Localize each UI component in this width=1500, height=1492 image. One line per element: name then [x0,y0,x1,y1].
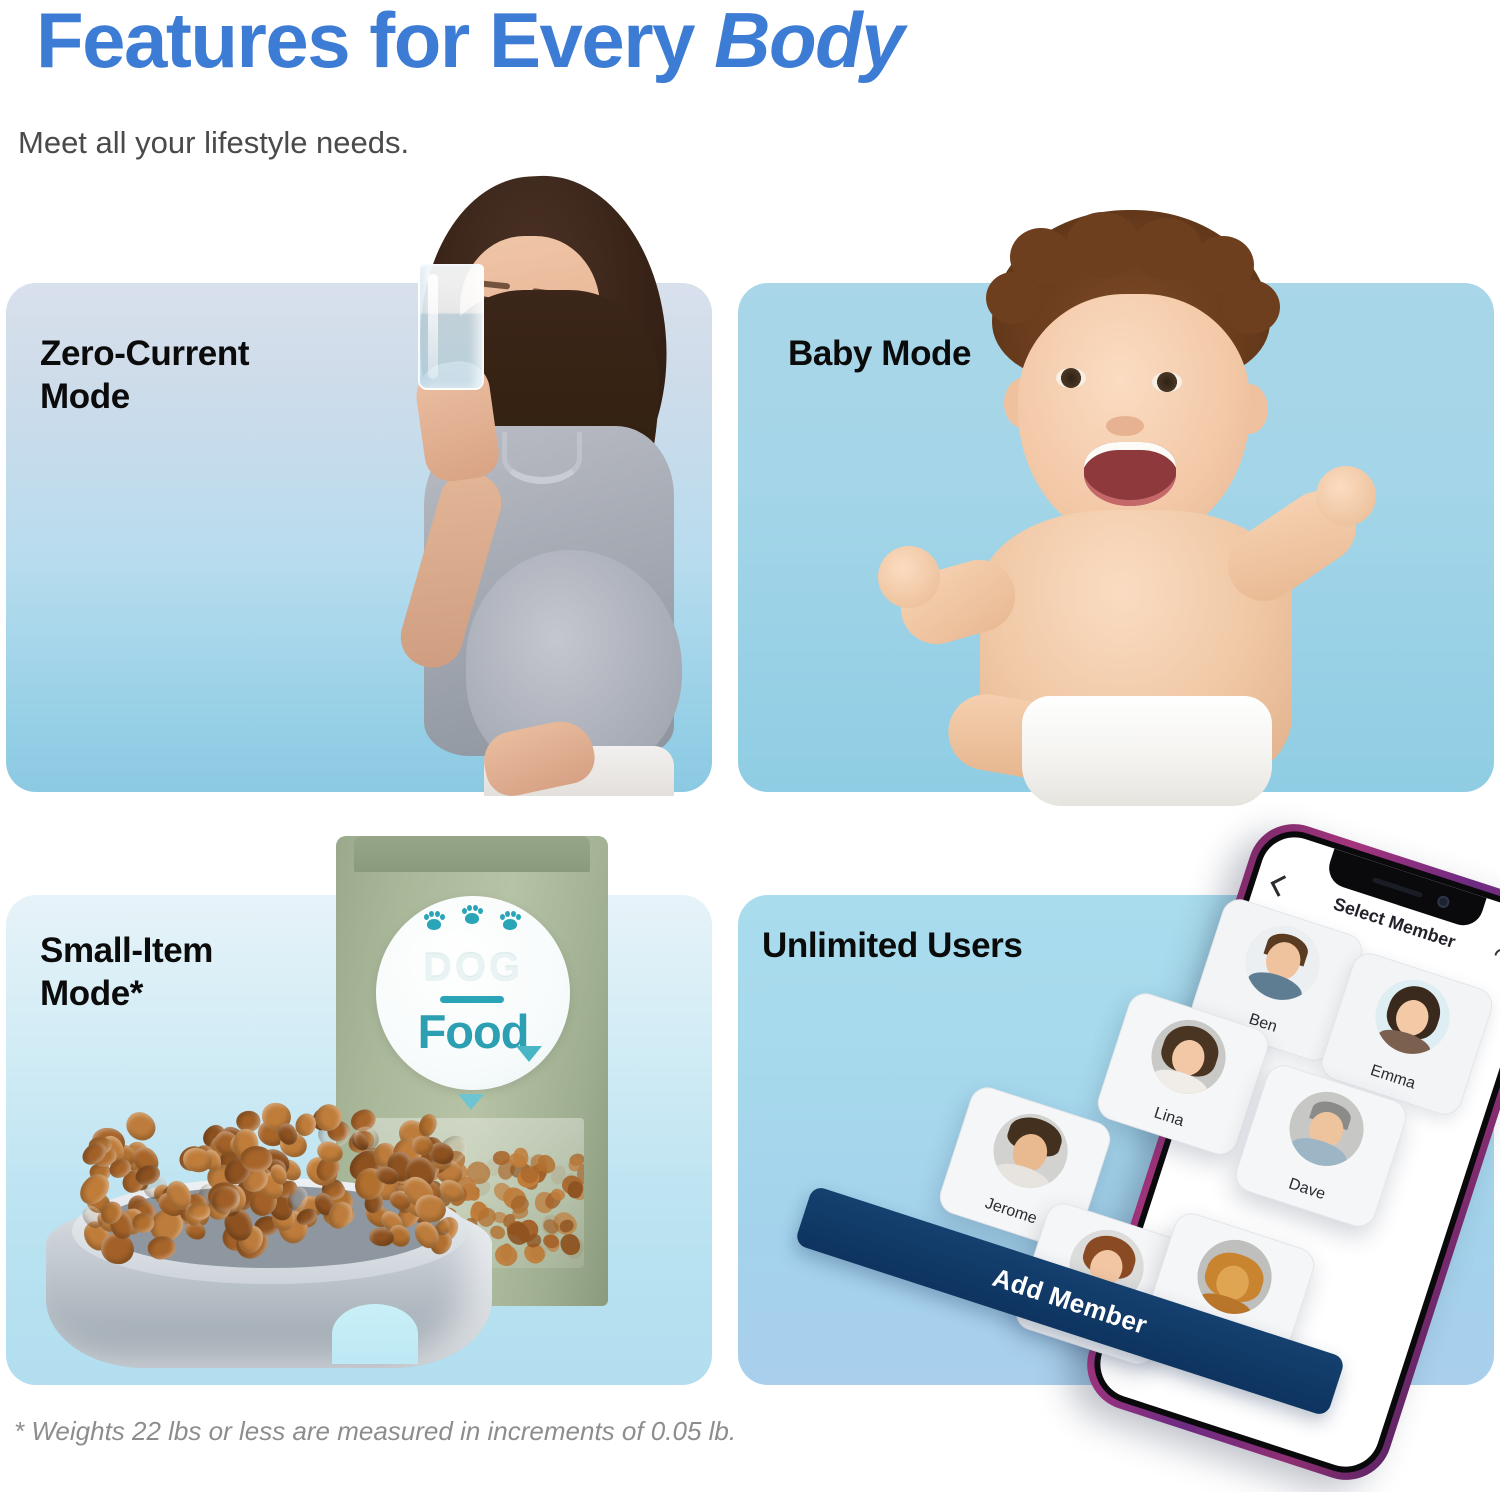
earpiece-speaker [1372,877,1423,898]
feature-title-small-item-mode: Small-Item Mode* [40,930,213,1015]
page-subtitle: Meet all your lifestyle needs. [18,125,409,161]
page-title-emphasis: Body [714,0,903,84]
avatar [1366,970,1459,1063]
avatar [984,1104,1077,1197]
avatar [1188,1230,1281,1323]
front-camera-icon [1436,894,1451,909]
bag-label: DOG Food [376,896,570,1090]
feature-title-unlimited-users: Unlimited Users [762,925,1022,968]
feature-title-baby-mode: Baby Mode [788,333,971,376]
feature-title-zero-current: Zero-Current Mode [40,333,249,418]
avatar [1142,1010,1235,1103]
image-baby [870,210,1390,792]
avatar [1280,1082,1373,1175]
image-pregnant-woman [398,170,728,795]
footnote: * Weights 22 lbs or less are measured in… [14,1416,736,1447]
page-title: Features for Every Body [36,0,903,82]
avatar [1236,916,1329,1009]
image-dog-bowl [46,1108,516,1388]
bag-brand-top: DOG [376,946,570,991]
glass-of-water-icon [418,264,484,390]
kibble-pile [82,1120,462,1260]
page-title-lead: Features for Every [36,0,714,84]
